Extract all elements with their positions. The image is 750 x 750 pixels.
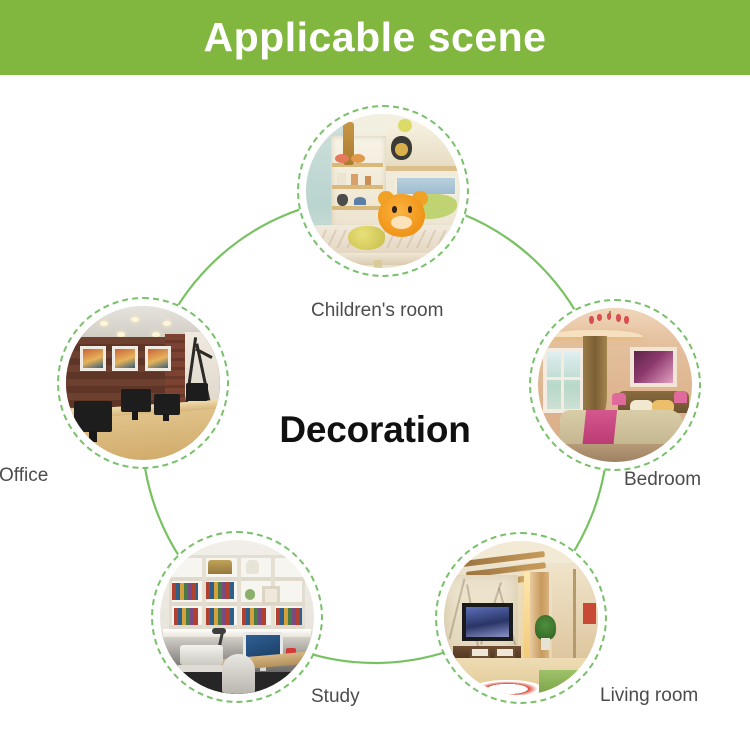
diagram-stage: Decoration bbox=[0, 75, 750, 750]
node-children-room-circle bbox=[297, 105, 469, 277]
page-title: Applicable scene bbox=[204, 17, 547, 58]
node-study-label: Study bbox=[311, 686, 360, 708]
node-living-room-label: Living room bbox=[600, 685, 698, 707]
office-photo bbox=[66, 306, 220, 460]
node-bedroom-label: Bedroom bbox=[624, 469, 701, 491]
node-children-room-label: Children's room bbox=[311, 300, 443, 322]
study-photo bbox=[160, 540, 314, 694]
node-bedroom-circle bbox=[529, 299, 701, 471]
node-office-circle bbox=[57, 297, 229, 469]
applicable-scene-infographic: Applicable scene Decoration bbox=[0, 0, 750, 750]
bedroom-photo bbox=[538, 308, 692, 462]
living-room-photo bbox=[444, 541, 598, 695]
node-study-circle bbox=[151, 531, 323, 703]
children-room-photo bbox=[306, 114, 460, 268]
header-banner: Applicable scene bbox=[0, 0, 750, 75]
node-living-room-circle bbox=[435, 532, 607, 704]
node-office-label: Office bbox=[0, 465, 48, 487]
